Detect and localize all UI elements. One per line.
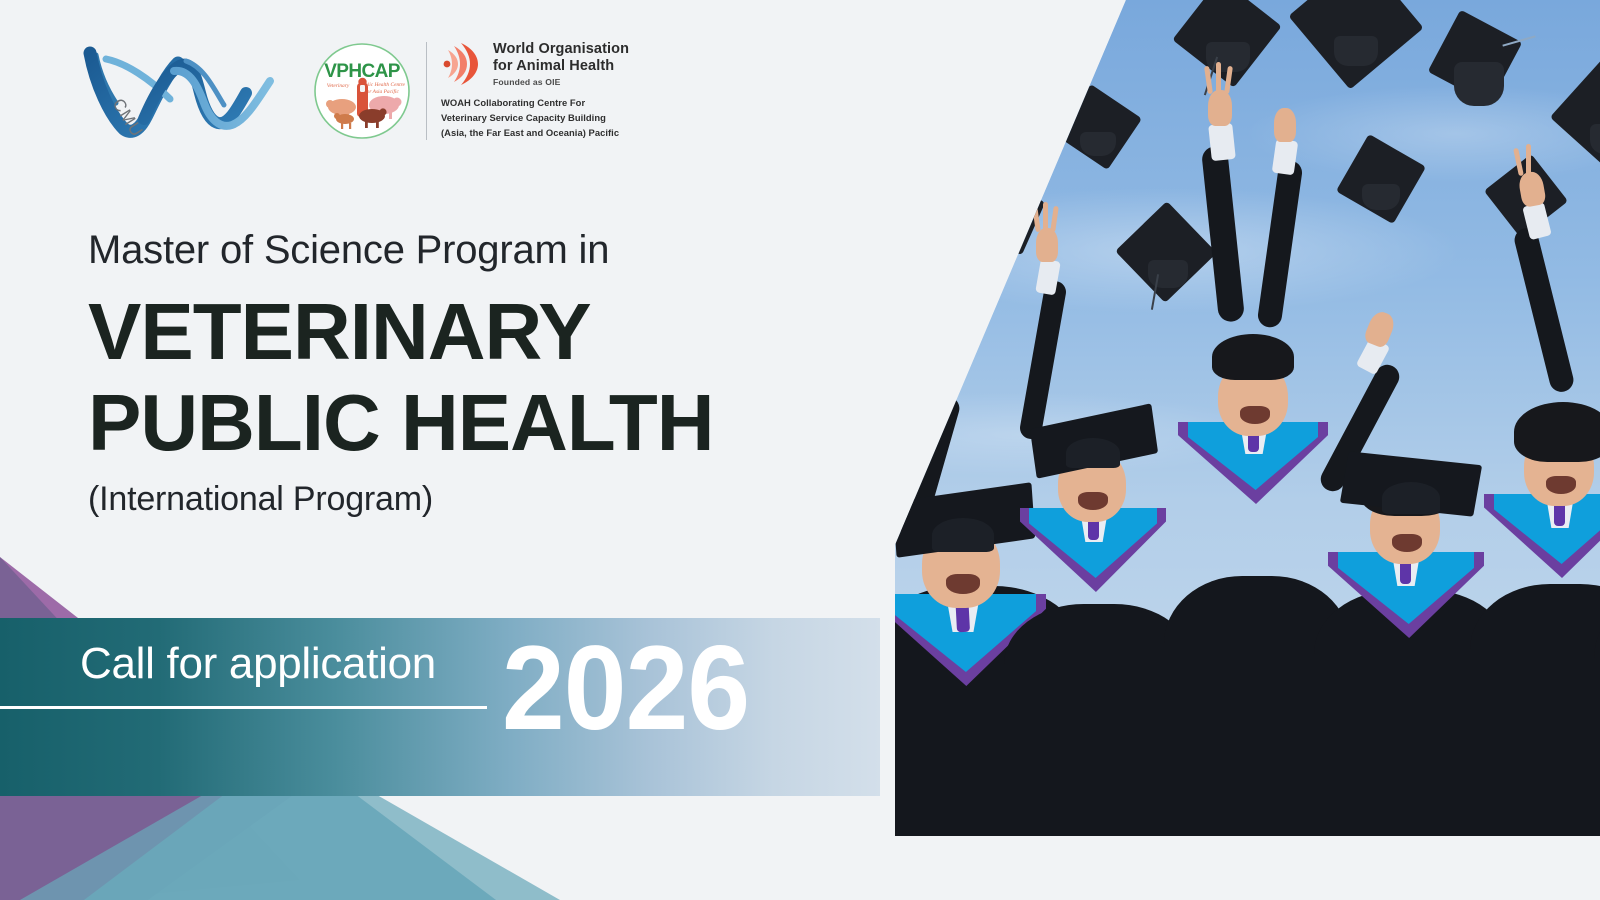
woah-sub-line2: Veterinary Service Capacity Building xyxy=(441,111,629,126)
logo-row: CMU VPHCAP Veterinary Public Health Cent… xyxy=(78,36,629,146)
cmu-logo: CMU xyxy=(78,41,290,141)
call-for-application-underline xyxy=(0,706,487,709)
program-type-line: (International Program) xyxy=(88,480,848,519)
program-degree-line: Master of Science Program in xyxy=(88,228,848,272)
vphcap-logo: VPHCAP Veterinary Public Health Centre f… xyxy=(312,41,412,141)
svg-text:Veterinary: Veterinary xyxy=(327,83,350,89)
woah-title: World Organisation for Animal Health xyxy=(493,41,629,75)
woah-logo: World Organisation for Animal Health Fou… xyxy=(441,41,629,141)
program-title-line1: VETERINARY xyxy=(88,286,848,377)
application-year: 2026 xyxy=(502,628,749,748)
graduation-photo xyxy=(878,0,1600,836)
headline-block: Master of Science Program in VETERINARY … xyxy=(88,228,848,519)
woah-collaborating-centre-text: WOAH Collaborating Centre For Veterinary… xyxy=(441,96,629,141)
graduate-figure xyxy=(1470,436,1600,836)
woah-title-line1: World Organisation xyxy=(493,41,629,58)
admissions-banner: CMU VPHCAP Veterinary Public Health Cent… xyxy=(0,0,1600,900)
woah-logo-top: World Organisation for Animal Health Fou… xyxy=(441,41,629,87)
woah-sub-line3: (Asia, the Far East and Oceania) Pacific xyxy=(441,126,629,141)
woah-sub-line1: WOAH Collaborating Centre For xyxy=(441,96,629,111)
woah-mark-icon xyxy=(441,41,485,87)
woah-title-line2: for Animal Health xyxy=(493,58,629,75)
call-for-application-label: Call for application xyxy=(80,639,436,689)
svg-text:for Asia Pacific: for Asia Pacific xyxy=(365,88,399,95)
graduate-figure xyxy=(1594,506,1600,836)
program-title-line2: PUBLIC HEALTH xyxy=(88,377,848,468)
logo-divider xyxy=(426,42,427,140)
woah-founded-text: Founded as OIE xyxy=(493,77,629,87)
